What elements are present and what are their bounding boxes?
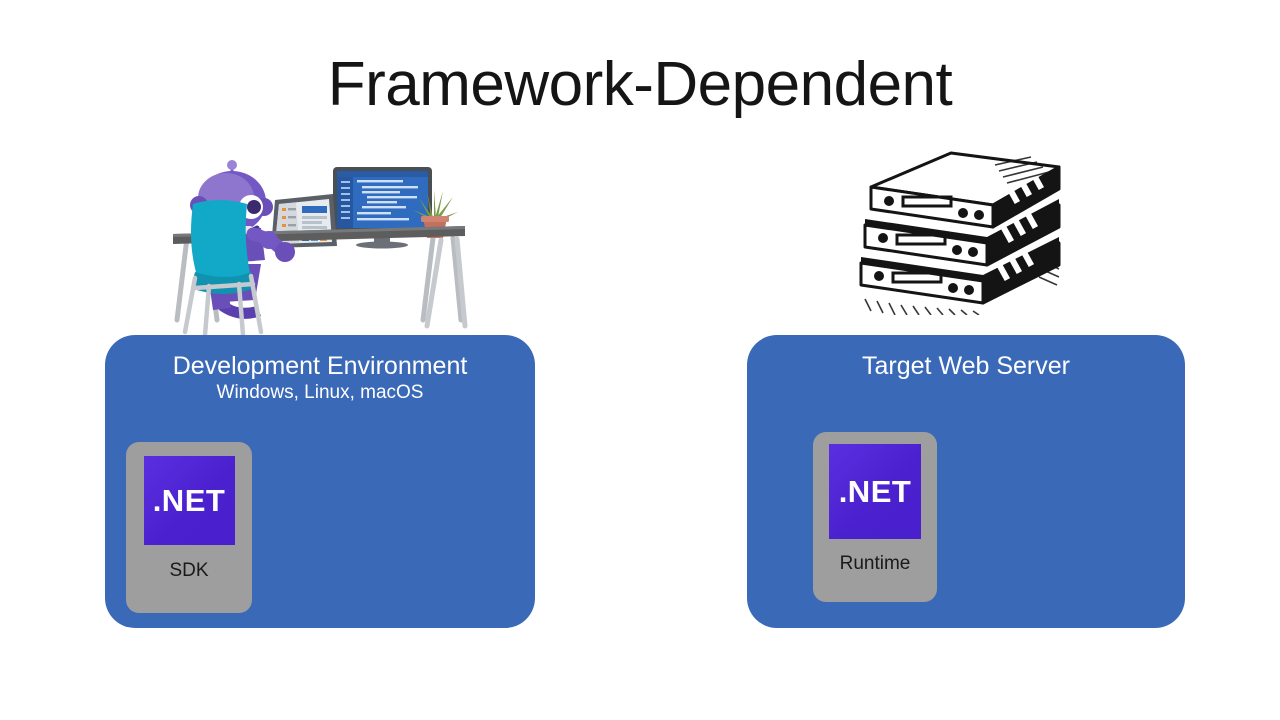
slide-canvas: Framework-Dependent bbox=[0, 0, 1280, 720]
developer-at-desk-illustration bbox=[165, 160, 470, 335]
dotnet-sdk-card: .NET SDK bbox=[126, 442, 252, 613]
dotnet-logo-tile: .NET bbox=[829, 444, 921, 539]
page-title: Framework-Dependent bbox=[0, 52, 1280, 117]
panel-target-web-server: Target Web Server .NET Runtime bbox=[747, 335, 1185, 628]
panel-subtitle-development-environment: Windows, Linux, macOS bbox=[105, 382, 535, 404]
dotnet-runtime-label: Runtime bbox=[840, 553, 911, 575]
server-stack-illustration bbox=[845, 143, 1085, 315]
dotnet-sdk-label: SDK bbox=[169, 560, 208, 582]
dotnet-runtime-card: .NET Runtime bbox=[813, 432, 937, 602]
panel-heading-target-web-server: Target Web Server bbox=[747, 352, 1185, 381]
panel-development-environment: Development Environment Windows, Linux, … bbox=[105, 335, 535, 628]
panel-heading-development-environment: Development Environment bbox=[105, 352, 535, 381]
dotnet-logo-tile: .NET bbox=[144, 456, 235, 545]
